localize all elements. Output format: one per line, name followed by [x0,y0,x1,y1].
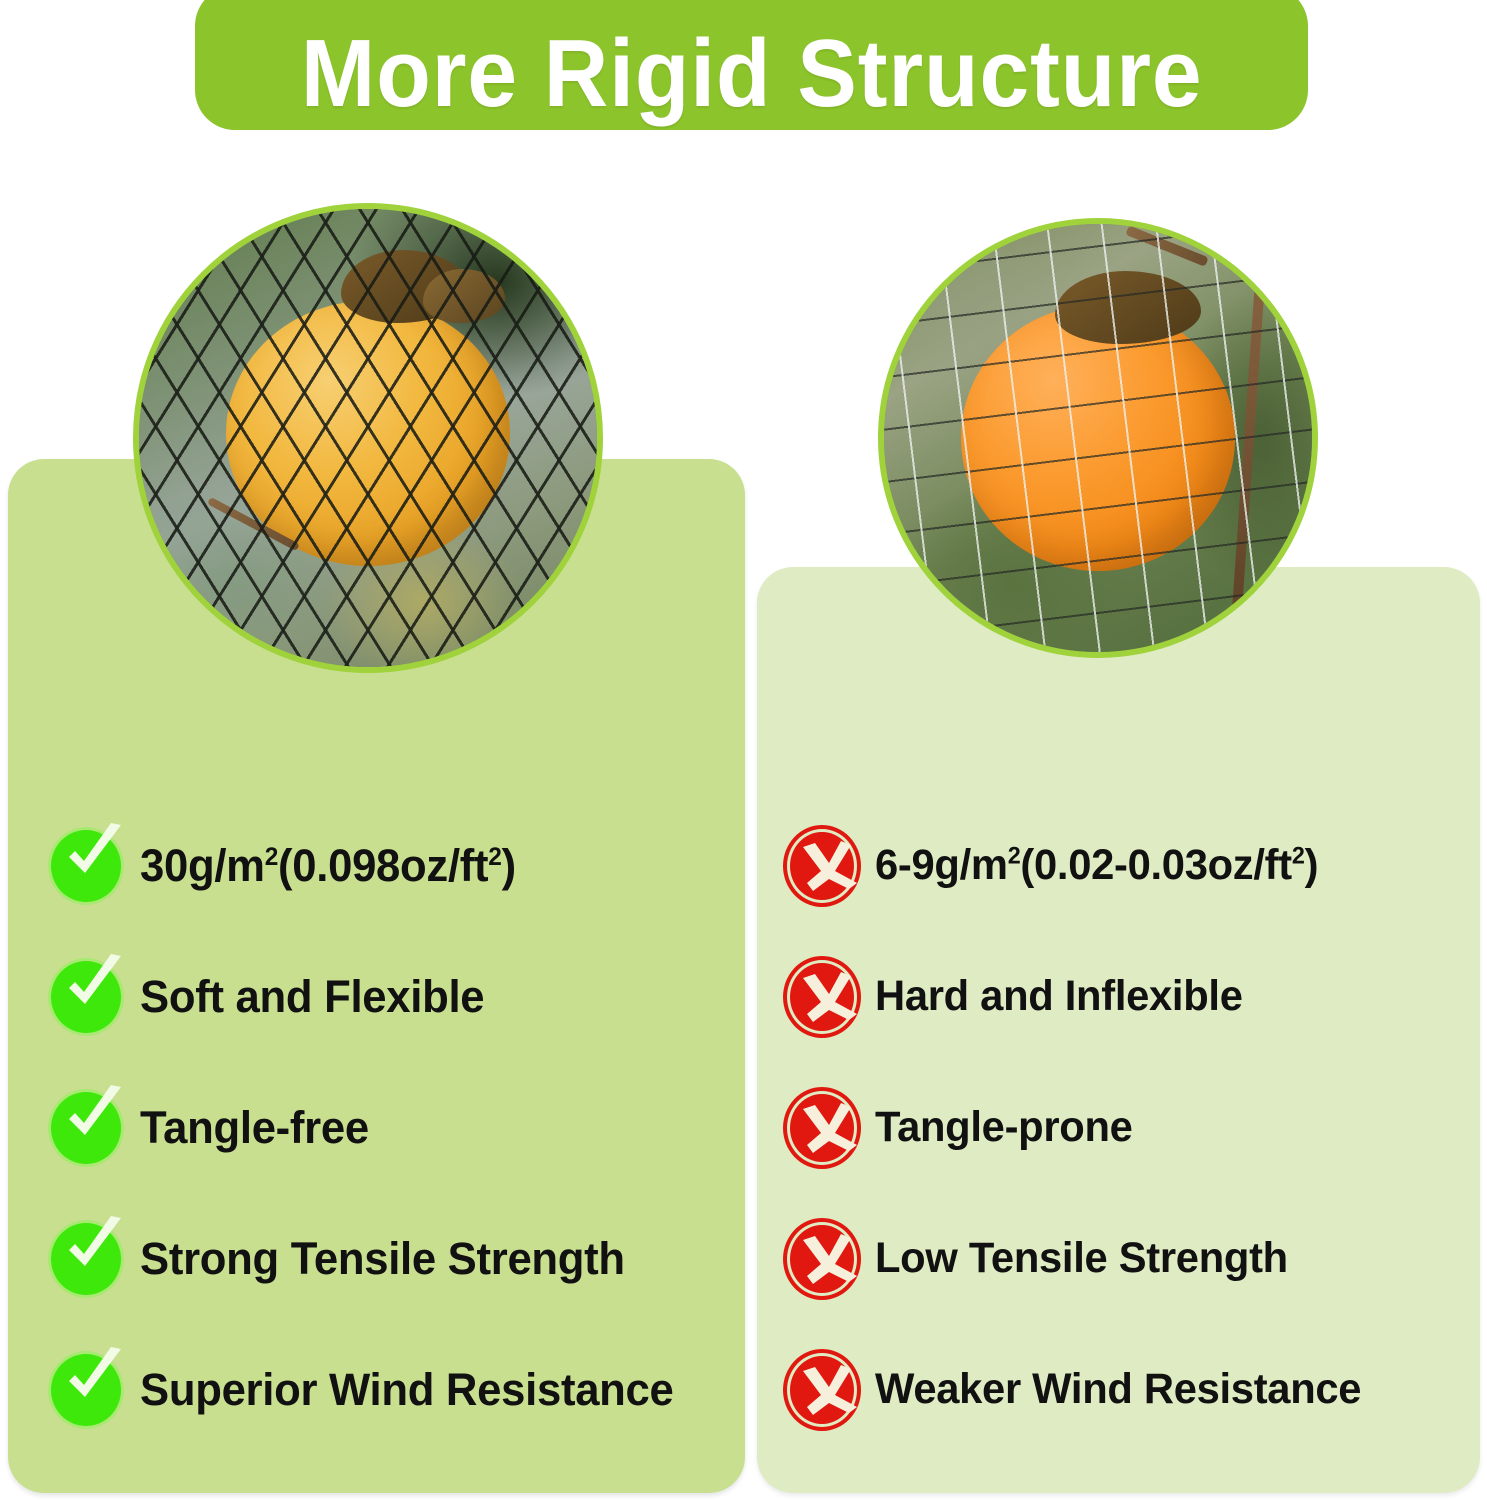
persimmon-in-heavy-net-photo [133,203,603,673]
list-item: Weaker Wind Resistance [783,1324,1473,1455]
cross-glyph [789,829,861,903]
list-item-label: Superior Wind Resistance [140,1364,674,1416]
infographic-canvas: More Rigid Structure [0,0,1487,1500]
list-item-label: Hard and Inflexible [875,972,1243,1021]
list-item-label: Soft and Flexible [140,971,484,1023]
feature-list-right: 6-9g/m2(0.02-0.03oz/ft2) Hard and Inflex… [783,800,1473,1455]
list-item: 30g/m2(0.098oz/ft2) [48,800,738,931]
list-item-label: 6-9g/m2(0.02-0.03oz/ft2) [875,841,1318,890]
persimmon-in-thin-net-photo [878,218,1318,658]
check-glyph [61,1085,123,1147]
net-overlay-right [878,218,1318,658]
list-item: 6-9g/m2(0.02-0.03oz/ft2) [783,800,1473,931]
cross-glyph [789,1091,861,1165]
check-glyph [61,823,123,885]
cross-glyph [789,1353,861,1427]
list-item: Tangle-free [48,1062,738,1193]
cross-icon [783,823,861,909]
check-icon [48,1216,126,1302]
check-glyph [61,1216,123,1278]
cross-icon [783,1216,861,1302]
check-icon [48,823,126,909]
page-title: More Rigid Structure [301,26,1203,122]
photo-left-scene [139,209,597,667]
list-item-label: Tangle-free [140,1102,369,1154]
title-banner: More Rigid Structure [195,0,1308,130]
list-item-label: Strong Tensile Strength [140,1233,625,1285]
cross-icon [783,954,861,1040]
check-icon [48,954,126,1040]
feature-list-left: 30g/m2(0.098oz/ft2) Soft and Flexible Ta… [48,800,738,1455]
net-overlay-left [133,203,603,673]
check-icon [48,1085,126,1171]
check-glyph [61,954,123,1016]
list-item: Tangle-prone [783,1062,1473,1193]
list-item: Soft and Flexible [48,931,738,1062]
photo-right-scene [884,224,1312,652]
list-item: Low Tensile Strength [783,1193,1473,1324]
list-item-label: Low Tensile Strength [875,1234,1288,1283]
list-item: Hard and Inflexible [783,931,1473,1062]
list-item-label: Tangle-prone [875,1103,1133,1152]
cross-glyph [789,1222,861,1296]
list-item-label: Weaker Wind Resistance [875,1365,1361,1414]
cross-glyph [789,960,861,1034]
list-item: Strong Tensile Strength [48,1193,738,1324]
check-icon [48,1347,126,1433]
list-item-label: 30g/m2(0.098oz/ft2) [140,840,516,892]
cross-icon [783,1085,861,1171]
check-glyph [61,1347,123,1409]
cross-icon [783,1347,861,1433]
list-item: Superior Wind Resistance [48,1324,738,1455]
